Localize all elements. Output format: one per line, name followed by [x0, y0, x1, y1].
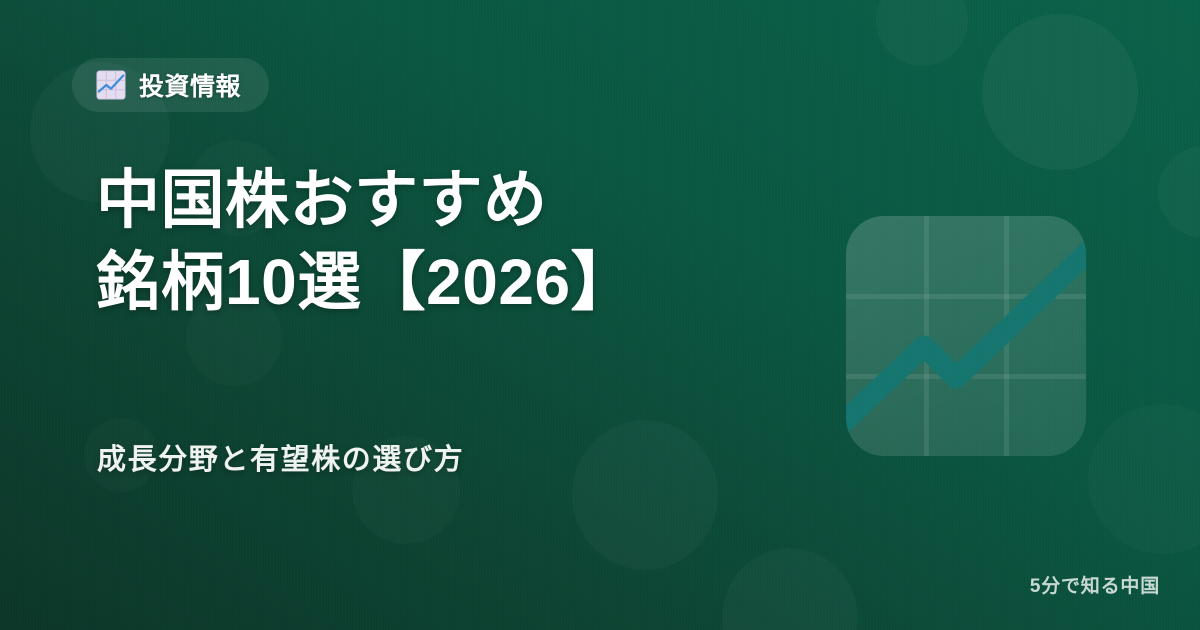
decorative-circle: [876, 0, 968, 66]
page-title: 中国株おすすめ 銘柄10選【2026】: [96, 160, 796, 324]
decorative-circle: [722, 548, 858, 630]
decorative-circle: [1158, 146, 1200, 238]
site-brand: 5分で知る中国: [1030, 571, 1160, 598]
page-subtitle: 成長分野と有望株の選び方: [97, 436, 464, 478]
og-card: 投資情報 中国株おすすめ 銘柄10選【2026】 成長分野と有望株の選び方 5分…: [0, 0, 1200, 630]
decorative-circle: [572, 420, 718, 570]
chart-trend-up-icon: [846, 216, 1086, 456]
category-badge[interactable]: 投資情報: [72, 58, 269, 112]
page-title-line-2: 銘柄10選【2026】: [96, 242, 796, 324]
decorative-circle: [982, 14, 1138, 170]
category-badge-label: 投資情報: [139, 67, 241, 103]
chart-increasing-emoji-icon: [96, 70, 126, 100]
trend-line-graphic: [846, 216, 1086, 456]
decorative-circle: [1088, 404, 1200, 554]
page-title-line-1: 中国株おすすめ: [96, 160, 796, 242]
